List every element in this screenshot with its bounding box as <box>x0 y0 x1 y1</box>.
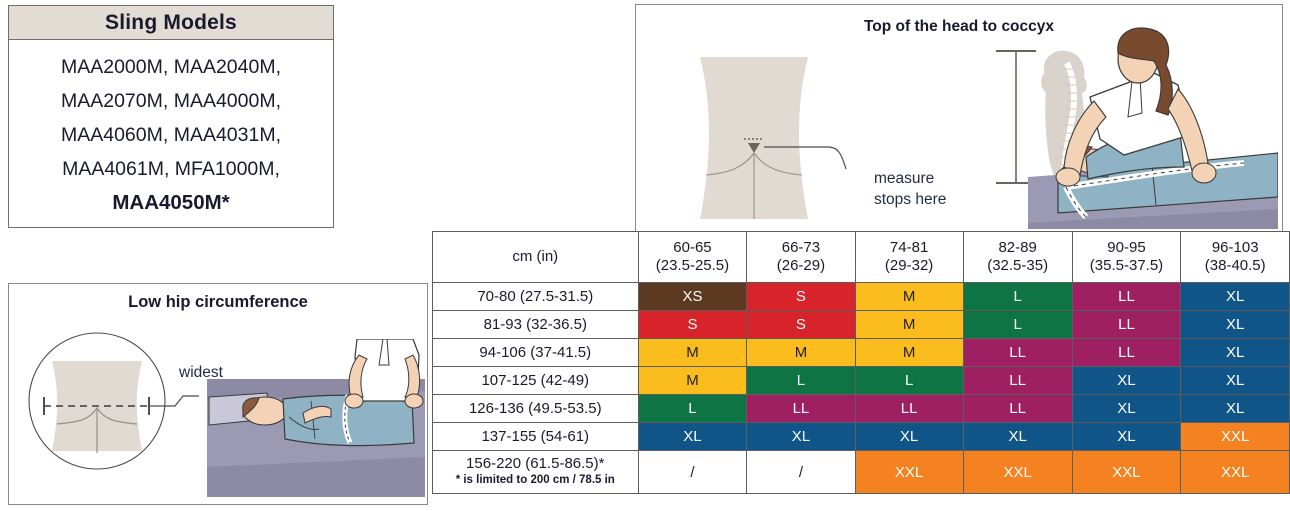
column-header-cm: 82-89 <box>964 239 1072 257</box>
column-header-cm: 90-95 <box>1073 239 1181 257</box>
row-header-hip-range: 81-93 (32-36.5) <box>433 311 639 339</box>
size-cell: XL <box>1181 311 1290 339</box>
size-cell: S <box>747 311 855 339</box>
size-cell: XL <box>1181 339 1290 367</box>
row-header-hip-range: 70-80 (27.5-31.5) <box>433 283 639 311</box>
row-header-label: 156-220 (61.5-86.5)* <box>466 455 604 472</box>
size-cell: XL <box>963 423 1072 451</box>
sling-model-line: MAA4061M, MFA1000M, <box>62 152 280 186</box>
column-header-in: (26-29) <box>747 257 854 275</box>
table-row: 156-220 (61.5-86.5)** is limited to 200 … <box>433 451 1290 494</box>
size-cell: XL <box>1072 395 1181 423</box>
sling-models-title: Sling Models <box>9 6 333 40</box>
row-header-hip-range: 107-125 (42-49) <box>433 367 639 395</box>
coccyx-measure-callout-line2: stops here <box>874 189 946 210</box>
size-cell: M <box>855 283 963 311</box>
table-row: 137-155 (54-61)XLXLXLXLXLXXL <box>433 423 1290 451</box>
size-cell: LL <box>1072 283 1181 311</box>
size-cell: M <box>638 367 747 395</box>
table-row: 94-106 (37-41.5)MMMLLLLXL <box>433 339 1290 367</box>
column-header-in: (29-32) <box>856 257 963 275</box>
sling-model-line: MAA2000M, MAA2040M, <box>61 50 281 84</box>
size-cell: XXL <box>1072 451 1181 494</box>
size-cell: XL <box>747 423 855 451</box>
size-cell: XL <box>1181 367 1290 395</box>
column-header-in: (35.5-37.5) <box>1073 257 1181 275</box>
row-header-hip-range: 94-106 (37-41.5) <box>433 339 639 367</box>
size-table-corner-label: cm (in) <box>433 232 639 283</box>
column-header-in: (38-40.5) <box>1181 257 1289 275</box>
table-row: 70-80 (27.5-31.5)XSSMLLLXL <box>433 283 1290 311</box>
column-header: 90-95 (35.5-37.5) <box>1072 232 1181 283</box>
size-cell: XS <box>638 283 747 311</box>
size-cell: M <box>855 339 963 367</box>
sling-model-line: MAA4060M, MAA4031M, <box>61 118 281 152</box>
row-header-label: 70-80 (27.5-31.5) <box>477 288 593 305</box>
row-header-label: 107-125 (42-49) <box>481 372 589 389</box>
size-cell: M <box>638 339 747 367</box>
coccyx-measure-callout-line1: measure <box>874 168 934 189</box>
row-header-label: 81-93 (32-36.5) <box>484 316 587 333</box>
size-cell: XXL <box>963 451 1072 494</box>
size-cell: LL <box>963 339 1072 367</box>
size-cell: L <box>638 395 747 423</box>
column-header-cm: 96-103 <box>1181 239 1289 257</box>
torso-back-diagram-illustration <box>678 47 888 227</box>
size-cell: XXL <box>1181 423 1290 451</box>
size-cell: M <box>855 311 963 339</box>
size-cell: XL <box>855 423 963 451</box>
table-row: 126-136 (49.5-53.5)LLLLLLLXLXL <box>433 395 1290 423</box>
sling-model-line-highlighted: MAA4050M* <box>112 186 229 220</box>
column-header: 74-81 (29-32) <box>855 232 963 283</box>
row-header-hip-range: 137-155 (54-61) <box>433 423 639 451</box>
low-hip-diagram-illustration <box>27 316 202 486</box>
column-header-in: (32.5-35) <box>964 257 1072 275</box>
coccyx-measurement-panel: Top of the head to coccyx measure stops … <box>635 4 1283 232</box>
row-header-hip-range: 126-136 (49.5-53.5) <box>433 395 639 423</box>
size-cell: LL <box>1072 339 1181 367</box>
size-cell: LL <box>963 367 1072 395</box>
size-cell: LL <box>855 395 963 423</box>
row-header-label: 137-155 (54-61) <box>481 428 589 445</box>
size-cell: XXL <box>1181 451 1290 494</box>
size-cell: S <box>747 283 855 311</box>
size-cell: XL <box>1072 367 1181 395</box>
size-cell: L <box>963 283 1072 311</box>
size-cell: XXL <box>855 451 963 494</box>
size-cell: M <box>747 339 855 367</box>
sling-models-panel: Sling Models MAA2000M, MAA2040M, MAA2070… <box>8 5 334 228</box>
column-header: 96-103 (38-40.5) <box>1181 232 1290 283</box>
size-cell: / <box>747 451 855 494</box>
size-table-header-row: cm (in) 60-65 (23.5-25.5) 66-73 (26-29) … <box>433 232 1290 283</box>
size-cell: XL <box>638 423 747 451</box>
table-row: 81-93 (32-36.5)SSMLLLXL <box>433 311 1290 339</box>
row-header-label: 94-106 (37-41.5) <box>479 344 591 361</box>
size-table-head: cm (in) 60-65 (23.5-25.5) 66-73 (26-29) … <box>433 232 1290 283</box>
low-hip-circumference-panel: Low hip circumference widest <box>8 283 428 505</box>
size-cell: XL <box>1072 423 1181 451</box>
column-header-cm: 66-73 <box>747 239 854 257</box>
column-header: 82-89 (32.5-35) <box>963 232 1072 283</box>
table-row: 107-125 (42-49)MLLLLXLXL <box>433 367 1290 395</box>
size-table-body: 70-80 (27.5-31.5)XSSMLLLXL81-93 (32-36.5… <box>433 283 1290 494</box>
size-cell: LL <box>963 395 1072 423</box>
row-header-hip-range: 156-220 (61.5-86.5)** is limited to 200 … <box>433 451 639 494</box>
size-cell: LL <box>747 395 855 423</box>
row-header-footnote: * is limited to 200 cm / 78.5 in <box>437 472 634 489</box>
sling-model-line: MAA2070M, MAA4000M, <box>61 84 281 118</box>
row-header-label: 126-136 (49.5-53.5) <box>469 400 602 417</box>
size-cell: / <box>638 451 747 494</box>
size-cell: L <box>963 311 1072 339</box>
low-hip-nurse-patient-illustration <box>207 339 425 499</box>
column-header: 60-65 (23.5-25.5) <box>638 232 747 283</box>
column-header: 66-73 (26-29) <box>747 232 855 283</box>
size-cell: L <box>747 367 855 395</box>
low-hip-title: Low hip circumference <box>9 293 427 312</box>
sling-size-selection-table: cm (in) 60-65 (23.5-25.5) 66-73 (26-29) … <box>432 231 1290 494</box>
size-cell: XL <box>1181 283 1290 311</box>
column-header-cm: 74-81 <box>856 239 963 257</box>
size-cell: L <box>855 367 963 395</box>
size-cell: LL <box>1072 311 1181 339</box>
column-header-in: (23.5-25.5) <box>639 257 747 275</box>
coccyx-nurse-patient-illustration <box>1028 27 1278 232</box>
size-cell: XL <box>1181 395 1290 423</box>
size-cell: S <box>638 311 747 339</box>
sling-models-list: MAA2000M, MAA2040M, MAA2070M, MAA4000M, … <box>9 40 333 228</box>
column-header-cm: 60-65 <box>639 239 747 257</box>
